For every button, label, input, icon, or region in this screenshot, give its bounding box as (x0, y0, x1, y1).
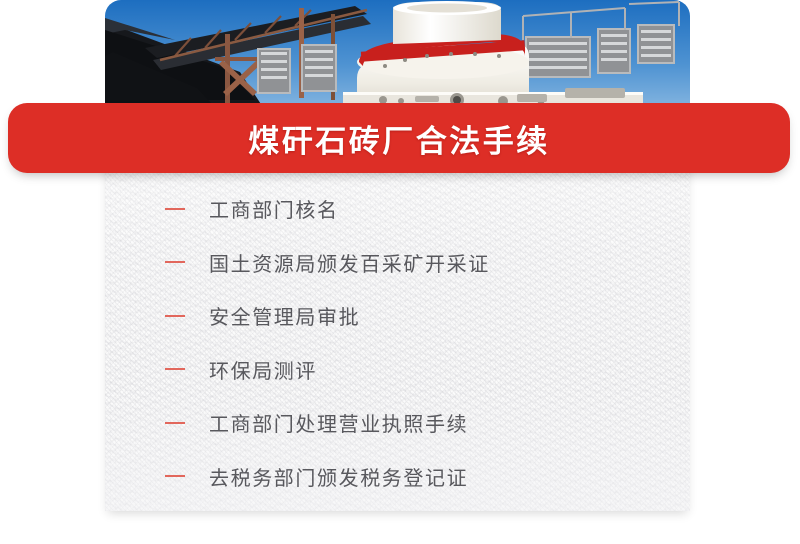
dash-bullet-icon (165, 368, 185, 370)
list-item-label: 工商部门处理营业执照手续 (209, 408, 468, 437)
dash-bullet-icon (165, 422, 185, 424)
list-item: 国土资源局颁发百采矿开采证 (105, 236, 690, 290)
page-title: 煤矸石砖厂合法手续 (248, 116, 550, 161)
dash-bullet-icon (165, 261, 185, 263)
dash-bullet-icon (165, 475, 185, 477)
hero-photo (105, 0, 690, 118)
list-item: 工商部门核名 (105, 182, 690, 236)
list-item: 去税务部门颁发税务登记证 (105, 450, 690, 504)
list-item-label: 工商部门核名 (209, 194, 339, 223)
page-root: 煤矸石砖厂合法手续 工商部门核名 国土资源局颁发百采矿开采证 安全管理局审批 环… (0, 0, 800, 544)
cone-crusher-photo (105, 0, 690, 118)
list-item: 安全管理局审批 (105, 289, 690, 343)
dash-bullet-icon (165, 208, 185, 210)
procedure-list: 工商部门核名 国土资源局颁发百采矿开采证 安全管理局审批 环保局测评 工商部门处… (105, 182, 690, 503)
list-item-label: 环保局测评 (209, 355, 317, 384)
list-item: 环保局测评 (105, 343, 690, 397)
dash-bullet-icon (165, 315, 185, 317)
list-item-label: 去税务部门颁发税务登记证 (209, 462, 468, 491)
list-item-label: 安全管理局审批 (209, 301, 360, 330)
title-banner: 煤矸石砖厂合法手续 (8, 103, 790, 173)
list-item-label: 国土资源局颁发百采矿开采证 (209, 248, 490, 277)
list-item: 工商部门处理营业执照手续 (105, 396, 690, 450)
